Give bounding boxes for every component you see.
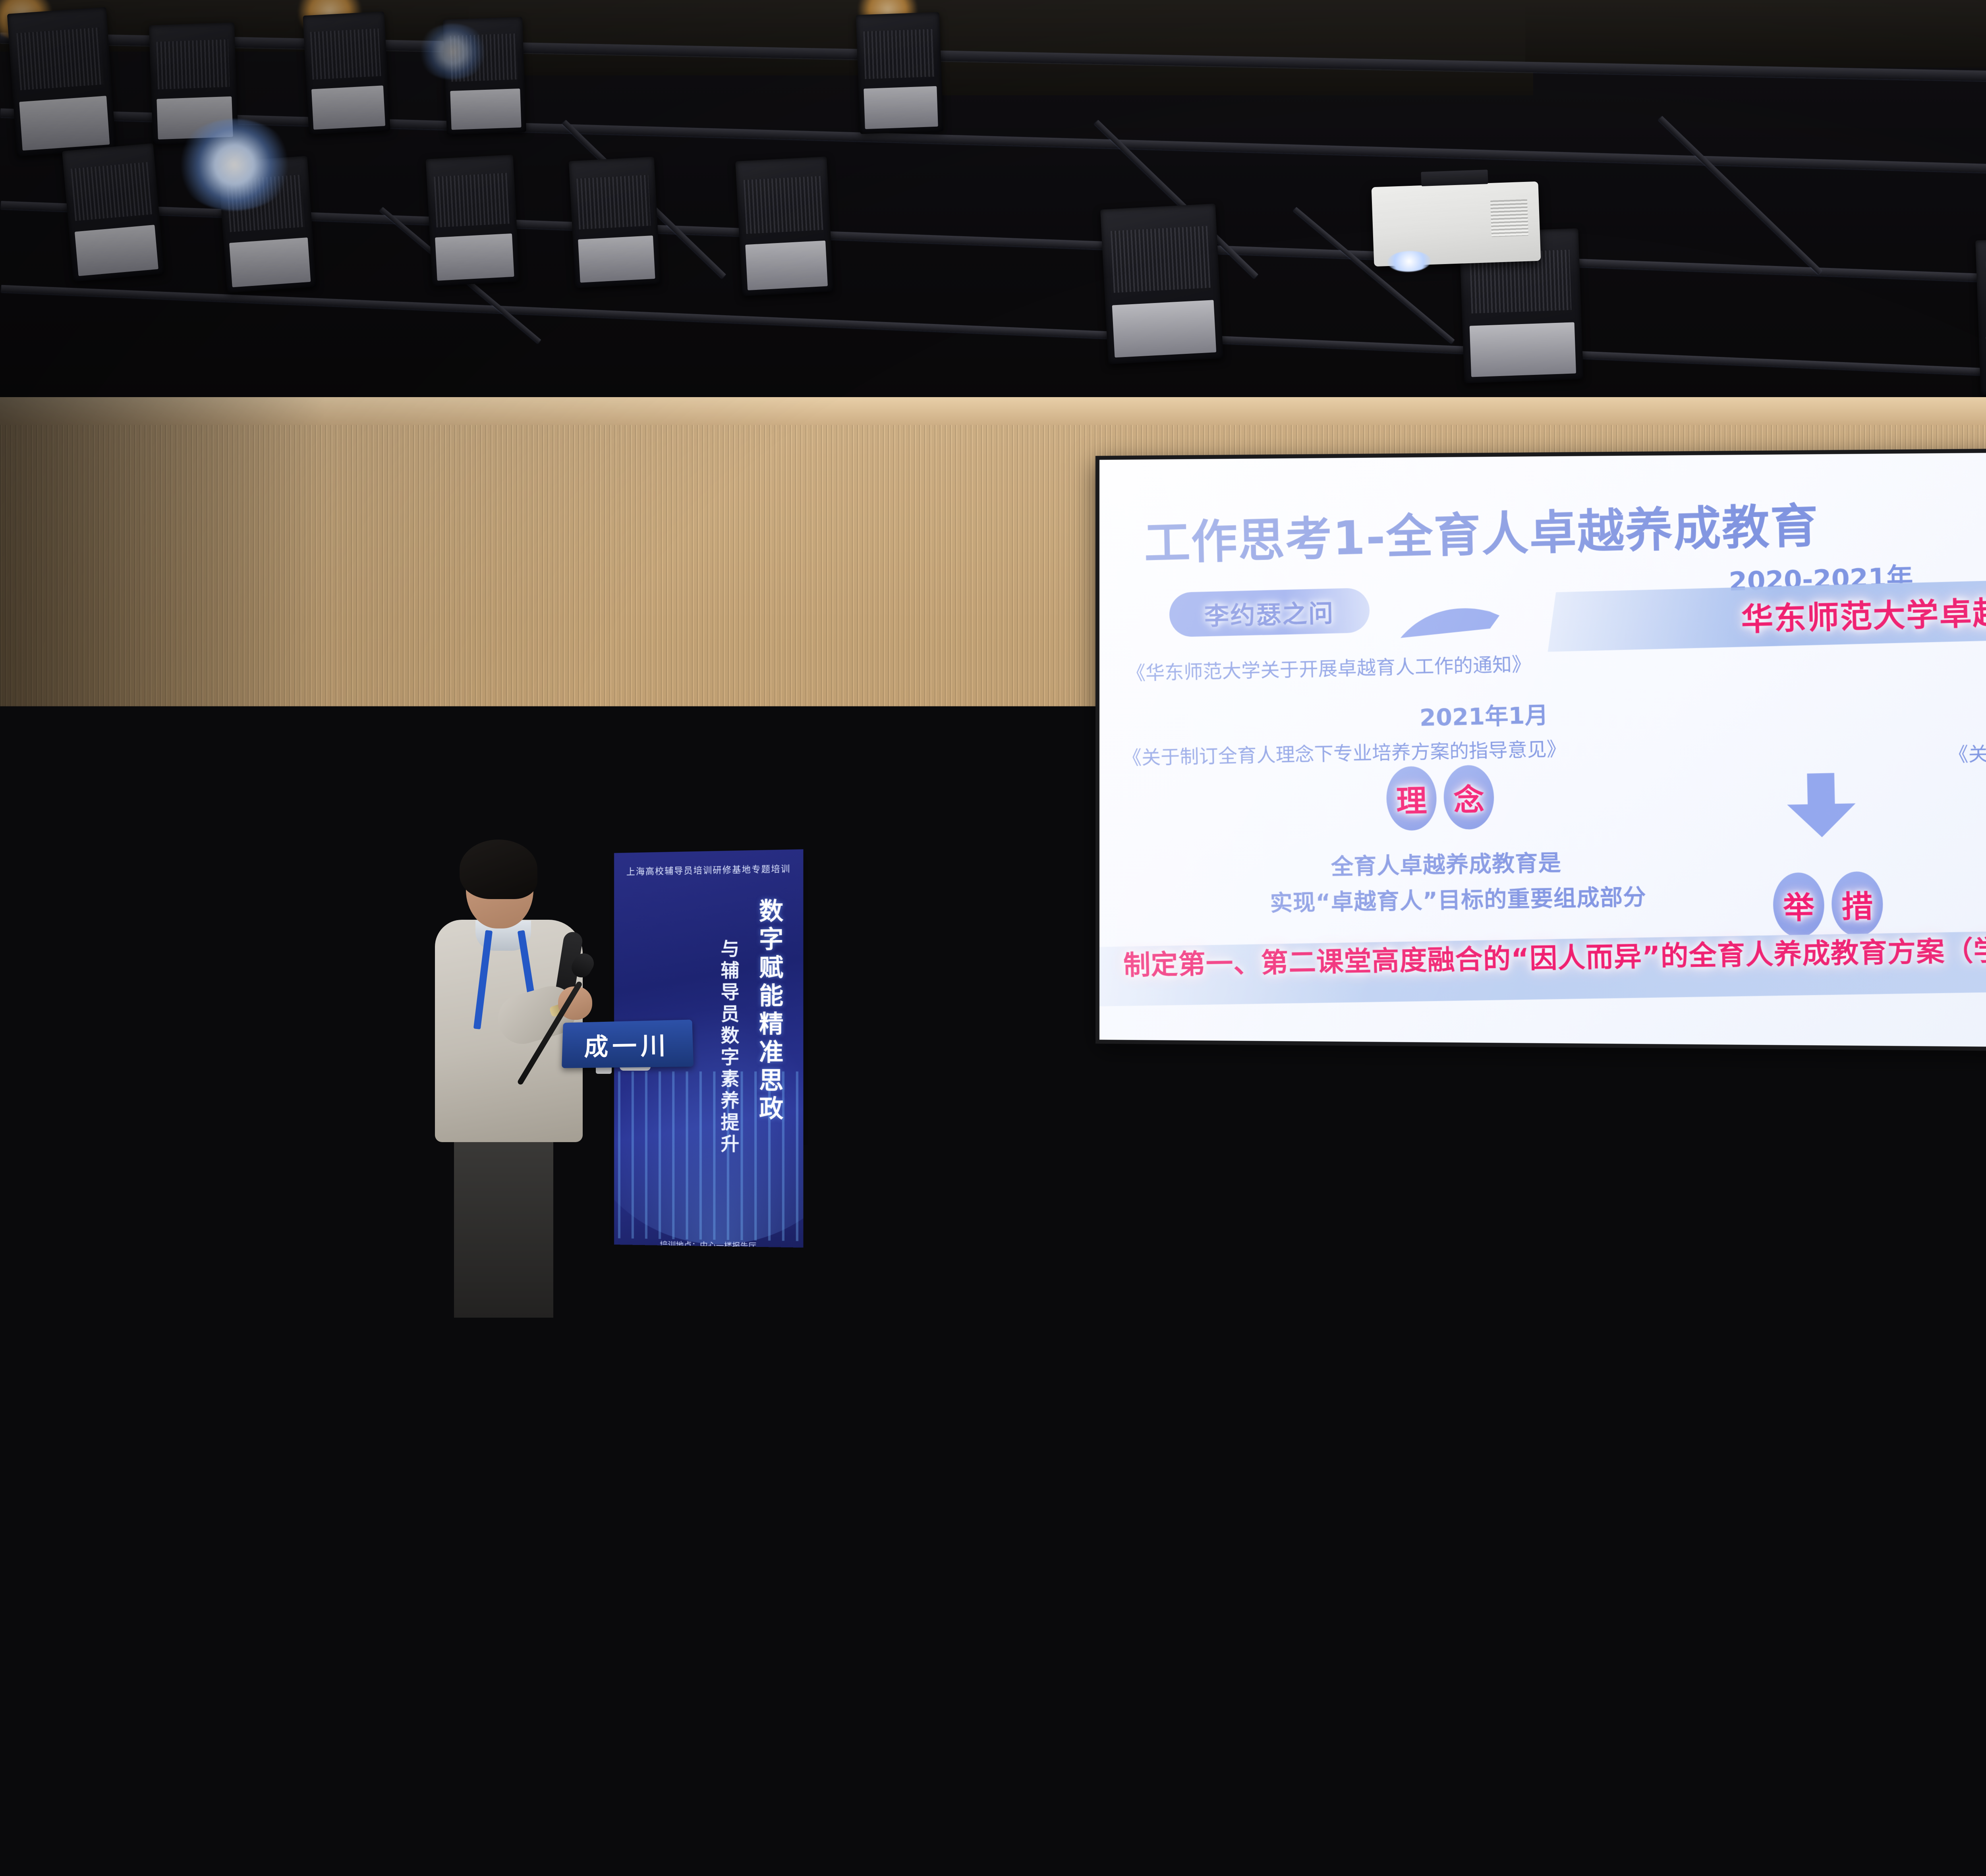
badge-measures-1: 举 — [1772, 872, 1825, 938]
auditorium-photo: ECNU 工作思考1-全育人卓越养成教育 2020-2021年 李约瑟之问 钱学… — [0, 0, 1986, 1876]
seat — [1279, 1783, 1450, 1876]
podium-top — [453, 1072, 719, 1095]
loudspeaker — [8, 1005, 135, 1299]
audience-area — [0, 1414, 1986, 1876]
presentation-slide: ECNU 工作思考1-全育人卓越养成教育 2020-2021年 李约瑟之问 钱学… — [1099, 446, 1986, 1054]
audience-member — [1088, 1473, 1219, 1680]
audience-member — [405, 1720, 604, 1876]
audience-member — [64, 1731, 262, 1876]
projection-screen-frame: ECNU 工作思考1-全育人卓越养成教育 2020-2021年 李约瑟之问 钱学… — [1095, 442, 1986, 1058]
seat — [1613, 1783, 1783, 1876]
stage-light — [303, 12, 390, 135]
stage-light — [569, 157, 661, 288]
down-arrow-icon — [1781, 768, 1861, 843]
lit-lamp-glow-icon — [417, 24, 489, 79]
nameplate-text: 成一川 — [584, 1026, 670, 1063]
rollup-title: 数字赋能精准思政 — [752, 898, 787, 1124]
ceiling-projector — [1372, 181, 1541, 267]
audience-member — [1772, 1727, 1970, 1876]
right-doc-bottom: 《关于落实与推进全育人卓越养成教育方案制订等相关工作的通知》 — [1948, 726, 1986, 767]
left-doc-top: 《华东师范大学关于开展卓越育人工作的通知》 — [1126, 648, 1531, 685]
stage-light — [735, 156, 833, 296]
badge-concept-1: 理 — [1386, 766, 1437, 831]
audience-member — [1430, 1731, 1629, 1876]
hair-clip — [146, 1632, 190, 1662]
badge-group-measures: 举 措 — [1772, 871, 1884, 938]
slide-title: 工作思考1-全育人卓越养成教育 — [1143, 488, 1819, 573]
audience-member — [747, 1731, 945, 1876]
lit-lamp-glow-icon — [175, 119, 294, 210]
podium-nameplate: 成一川 — [562, 1019, 694, 1068]
stage-light — [1100, 204, 1223, 365]
ceiling-area — [0, 0, 1986, 421]
left-body-line-2: 实现“卓越育人”目标的重要组成部分 — [1270, 879, 1647, 918]
left-doc-bottom: 《关于制订全育人理念下专业培养方案的指导意见》 — [1122, 733, 1566, 770]
audience-member — [1088, 1727, 1287, 1876]
badge-group-concept: 理 念 — [1386, 765, 1495, 831]
left-body-line-1: 全育人卓越养成教育是 — [1331, 845, 1562, 881]
rollup-subtitle: 与辅导员数字素养提升 — [715, 939, 742, 1156]
stage-light — [856, 12, 943, 134]
ecnu-seal-icon — [536, 1164, 636, 1263]
audience-member — [937, 1585, 1096, 1791]
badge-concept-2: 念 — [1443, 765, 1495, 830]
stage-light — [7, 7, 116, 157]
stage-light — [62, 143, 164, 282]
left-doc-date: 2021年1月 — [1419, 696, 1549, 733]
projection-screen: ECNU 工作思考1-全育人卓越养成教育 2020-2021年 李约瑟之问 钱学… — [1099, 446, 1986, 1054]
pill-needham-question: 李约瑟之问 — [1169, 588, 1370, 637]
stage-light — [426, 154, 520, 286]
badge-measures-2: 措 — [1831, 871, 1884, 937]
rollup-header: 上海高校辅导员培训研修基地专题培训 — [614, 861, 803, 878]
arrow-left-to-center-icon — [1397, 597, 1507, 648]
podium — [463, 1072, 709, 1342]
presenter-hair — [460, 840, 537, 899]
